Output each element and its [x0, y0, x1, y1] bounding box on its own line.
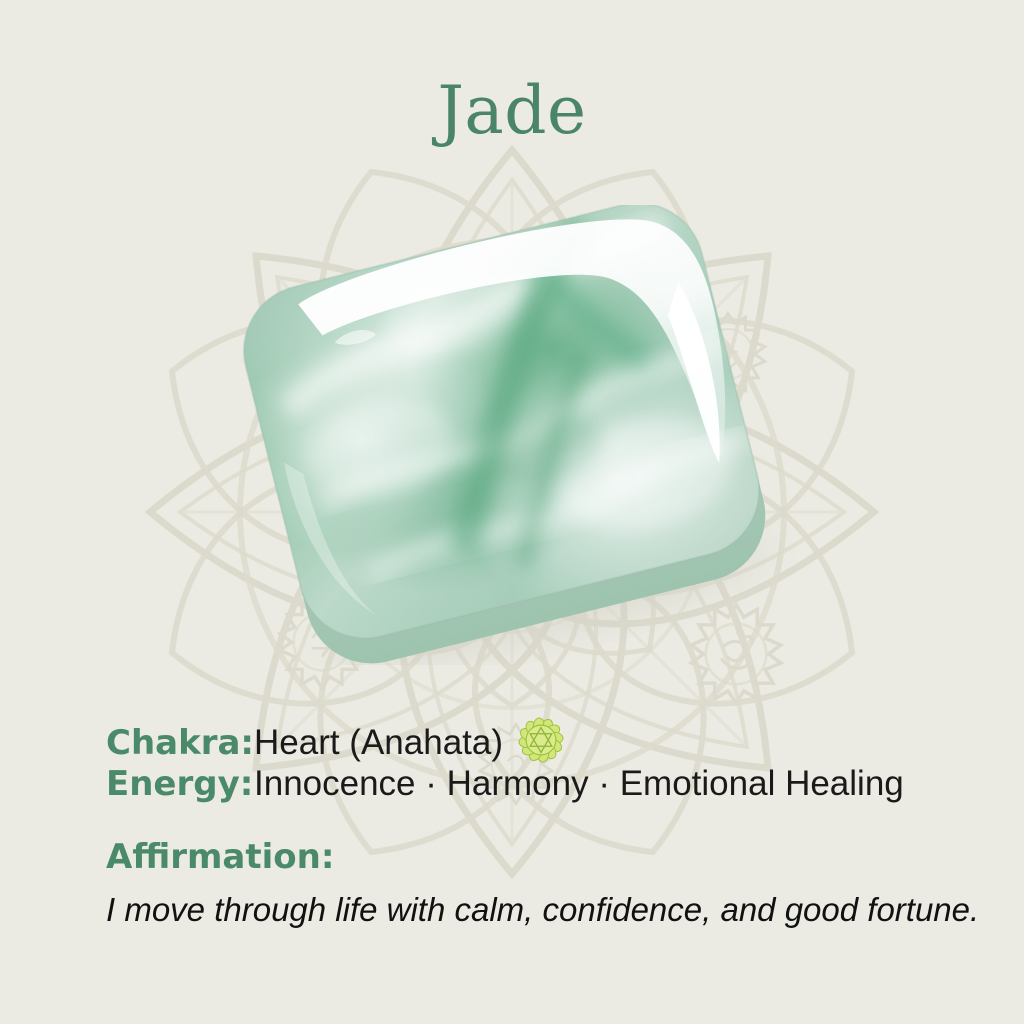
energy-value: Innocence · Harmony · Emotional Healing [254, 766, 904, 803]
chakra-value: Heart (Anahata) [254, 725, 503, 762]
chakra-row: Chakra: Heart (Anahata) [106, 706, 986, 758]
anahata-chakra-icon [517, 716, 565, 764]
affirmation-text: I move through life with calm, confidenc… [106, 892, 986, 928]
chakra-label: Chakra: [106, 726, 254, 762]
jade-stone-image [236, 205, 796, 665]
energy-label: Energy: [106, 767, 254, 803]
energy-row: Energy: Innocence · Harmony · Emotional … [106, 766, 986, 824]
crystal-info-card: Jade [0, 0, 1024, 1024]
affirmation-label: Affirmation: [106, 840, 986, 876]
page-title: Jade [0, 78, 1024, 144]
crystal-attributes: Chakra: Heart (Anahata) [106, 706, 986, 928]
